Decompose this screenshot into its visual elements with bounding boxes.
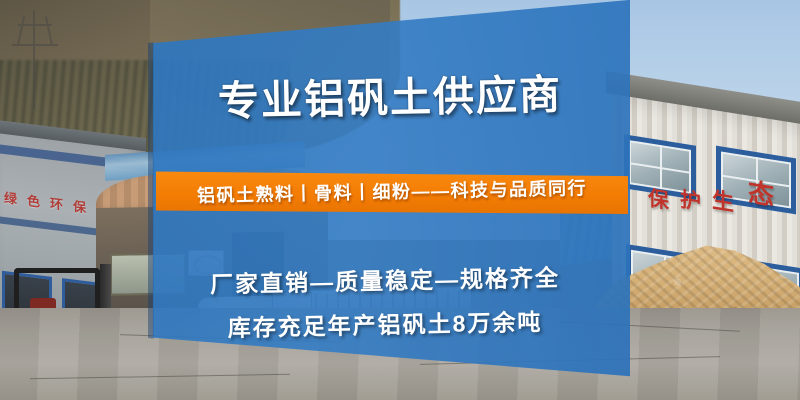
banner-subline-2: 库存充足年产铝矾土8万余吨 — [150, 301, 621, 344]
banner-screenshot: 绿 色 环 保 安 全 为 先 — [0, 0, 800, 400]
warehouse-window — [624, 134, 696, 199]
banner-subline-1: 厂家直销—质量稳定—规格齐全 — [150, 257, 621, 300]
left-sign-char: 绿 — [4, 187, 18, 208]
banner-copy: 专业铝矾土供应商 铝矾土熟料丨骨料丨细粉——科技与品质同行 厂家直销—质量稳定—… — [150, 0, 630, 400]
power-pylon-icon — [8, 10, 62, 110]
left-sign-char: 保 — [73, 195, 87, 216]
left-sign-char: 环 — [50, 192, 64, 213]
left-sign-char: 色 — [27, 190, 41, 211]
banner-headline: 专业铝矾土供应商 — [150, 73, 631, 124]
